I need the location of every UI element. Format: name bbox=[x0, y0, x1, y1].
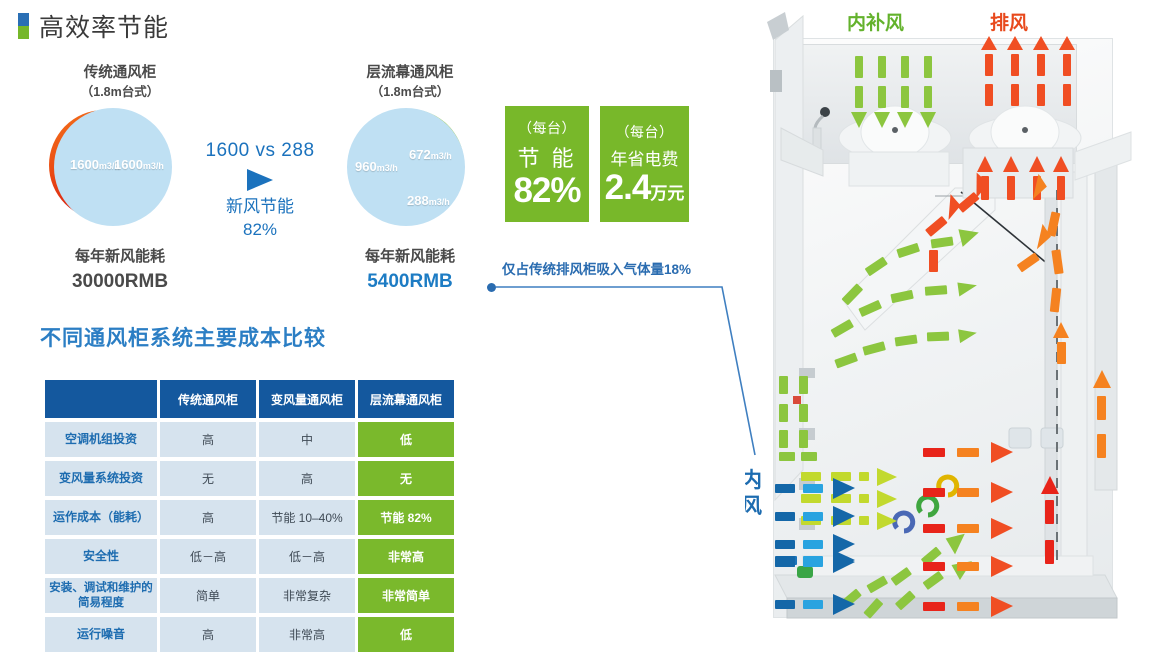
row-cell-highlight: 非常简单 bbox=[358, 578, 454, 613]
row-cell: 简单 bbox=[160, 578, 256, 613]
row-cell: 节能 10–40% bbox=[259, 500, 355, 535]
row-cell: 非常复杂 bbox=[259, 578, 355, 613]
table-header-row: 传统通风柜 变风量通风柜 层流幕通风柜 bbox=[45, 380, 454, 418]
row-cell-highlight: 低 bbox=[358, 617, 454, 652]
table-header-col2: 变风量通风柜 bbox=[259, 380, 355, 418]
row-cell: 高 bbox=[160, 500, 256, 535]
badge-0-big: 82% bbox=[513, 173, 580, 210]
table-title: 不同通风柜系统主要成本比较 bbox=[40, 322, 326, 352]
row-cell: 低－高 bbox=[160, 539, 256, 574]
compare-line2: 82% bbox=[190, 219, 330, 242]
row-cell-highlight: 低 bbox=[358, 422, 454, 457]
cost-comparison-table: 传统通风柜 变风量通风柜 层流幕通风柜 空调机组投资 高 中 低 变风量系统投资… bbox=[42, 376, 457, 656]
table-header-col3: 层流幕通风柜 bbox=[358, 380, 454, 418]
row-cell: 中 bbox=[259, 422, 355, 457]
page-header: 高效率节能 bbox=[18, 8, 169, 44]
label-exhaust-air: 排风 bbox=[990, 8, 1028, 35]
page-root: 高效率节能 传统通风柜 （1.8m台式） bbox=[0, 0, 1149, 660]
row-cell-highlight: 无 bbox=[358, 461, 454, 496]
badge-1-mid: 年省电费 bbox=[611, 145, 679, 170]
badge-1-cap: （每台） bbox=[616, 122, 674, 142]
row-cell-highlight: 节能 82% bbox=[358, 500, 454, 535]
compare-arrow-icon bbox=[247, 169, 273, 191]
right-pie-footer: 每年新风能耗 5400RMB bbox=[315, 246, 505, 295]
row-cell: 高 bbox=[160, 617, 256, 652]
callout-label: 仅占传统排风柜吸入气体量18% bbox=[502, 258, 691, 278]
left-pie-chart: 1600m3/h 1600m3/h bbox=[34, 108, 204, 226]
table-row: 空调机组投资 高 中 低 bbox=[45, 422, 454, 457]
row-cell-highlight: 非常高 bbox=[358, 539, 454, 574]
row-label: 变风量系统投资 bbox=[45, 461, 157, 496]
row-cell: 高 bbox=[259, 461, 355, 496]
right-pie-green-label: 672m3/h bbox=[409, 147, 452, 162]
label-indoor-fresh-air: 室内 新风 bbox=[745, 468, 762, 521]
header-marker-icon bbox=[18, 13, 29, 39]
row-cell: 无 bbox=[160, 461, 256, 496]
right-pie-chart: 960m3/h 672m3/h 288m3/h bbox=[345, 108, 505, 226]
table-body: 空调机组投资 高 中 低 变风量系统投资 无 高 无 运作成本（能耗） 高 节能… bbox=[45, 422, 454, 652]
row-label: 安装、调试和维护的简易程度 bbox=[45, 578, 157, 613]
table-row: 运行噪音 高 非常高 低 bbox=[45, 617, 454, 652]
badge-0-mid: 节 能 bbox=[517, 141, 576, 173]
page-title: 高效率节能 bbox=[39, 8, 169, 44]
right-pie-red-label: 960m3/h bbox=[355, 159, 398, 174]
row-cell: 低－高 bbox=[259, 539, 355, 574]
fume-hood-illustration: 内补风 排风 室内 新风 bbox=[745, 0, 1149, 660]
right-pie-blue-label: 288m3/h bbox=[407, 193, 450, 208]
row-label: 运行噪音 bbox=[45, 617, 157, 652]
table-row: 运作成本（能耗） 高 节能 10–40% 节能 82% bbox=[45, 500, 454, 535]
table-header-blank bbox=[45, 380, 157, 418]
left-pie-red-label: 1600m3/h bbox=[70, 157, 120, 172]
left-pie-blue-label: 1600m3/h bbox=[114, 157, 164, 172]
compare-headline: 1600 vs 288 bbox=[190, 140, 330, 162]
badge-0-cap: （每台） bbox=[518, 118, 576, 138]
row-label: 空调机组投资 bbox=[45, 422, 157, 457]
callout-dot-icon bbox=[487, 283, 496, 292]
left-pie-title: 传统通风柜 （1.8m台式） bbox=[30, 64, 210, 100]
compare-line1: 新风节能 bbox=[190, 196, 330, 219]
right-pie-title: 层流幕通风柜 （1.8m台式） bbox=[315, 64, 505, 100]
row-label: 安全性 bbox=[45, 539, 157, 574]
table-row: 变风量系统投资 无 高 无 bbox=[45, 461, 454, 496]
compare-block: 1600 vs 288 新风节能 82% bbox=[190, 140, 330, 242]
row-label: 运作成本（能耗） bbox=[45, 500, 157, 535]
label-supply-air: 内补风 bbox=[847, 8, 904, 35]
badge-energy-saving: （每台） 节 能 82% bbox=[505, 106, 589, 222]
left-pie-footer: 每年新风能耗 30000RMB bbox=[30, 246, 210, 295]
table-head: 传统通风柜 变风量通风柜 层流幕通风柜 bbox=[45, 380, 454, 418]
row-cell: 高 bbox=[160, 422, 256, 457]
table-row: 安全性 低－高 低－高 非常高 bbox=[45, 539, 454, 574]
badge-annual-savings: （每台） 年省电费 2.4万元 bbox=[600, 106, 689, 222]
table-header-col1: 传统通风柜 bbox=[160, 380, 256, 418]
table-row: 安装、调试和维护的简易程度 简单 非常复杂 非常简单 bbox=[45, 578, 454, 613]
row-cell: 非常高 bbox=[259, 617, 355, 652]
badge-1-big: 2.4万元 bbox=[605, 170, 685, 207]
cabinet-top-plenum bbox=[777, 44, 1077, 164]
